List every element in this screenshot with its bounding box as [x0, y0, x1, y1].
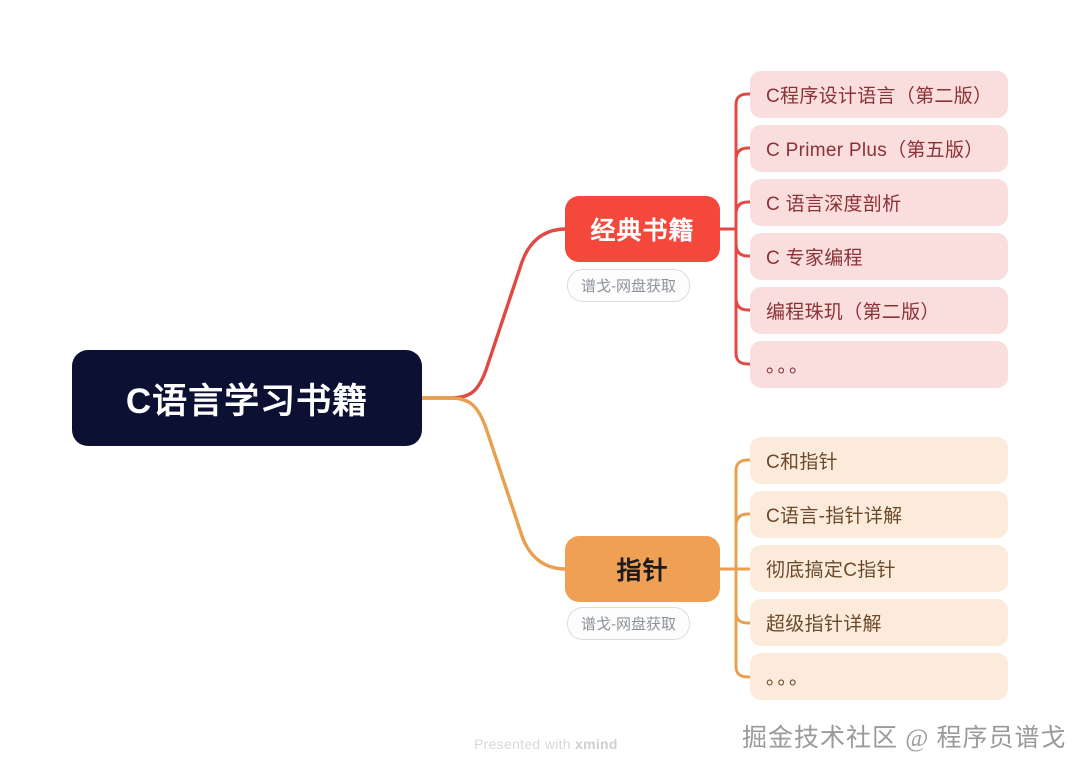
connector-pointer-arm-5	[736, 654, 750, 677]
leaf-node-classic-3-label: C 语言深度剖析	[750, 189, 901, 216]
xmind-watermark-prefix: Presented with	[474, 736, 575, 752]
note-pill-pointers[interactable]: 谱戈-网盘获取	[567, 607, 690, 640]
connector-classic-arm-1	[736, 94, 750, 117]
leaf-node-classic-3[interactable]: C 语言深度剖析	[750, 179, 1008, 226]
leaf-node-classic-6-label: 。。。	[750, 351, 810, 378]
root-node-label: C语言学习书籍	[126, 373, 368, 424]
leaf-node-classic-5[interactable]: 编程珠玑（第二版）	[750, 287, 1008, 334]
leaf-node-pointer-2-label: C语言-指针详解	[750, 501, 902, 528]
xmind-watermark-brand: xmind	[575, 736, 618, 752]
connector-classic-arm-4	[736, 244, 750, 256]
author-watermark: 掘金技术社区 @ 程序员谱戈	[742, 718, 1067, 754]
xmind-watermark: Presented with xmind	[474, 736, 618, 752]
leaf-node-classic-6-ellipsis[interactable]: 。。。	[750, 341, 1008, 388]
leaf-node-pointer-3[interactable]: 彻底搞定C指针	[750, 545, 1008, 592]
branch-node-pointers[interactable]: 指针	[565, 536, 720, 602]
leaf-node-classic-4-label: C 专家编程	[750, 243, 863, 270]
leaf-node-classic-1[interactable]: C程序设计语言（第二版）	[750, 71, 1008, 118]
connector-pointer-arm-2	[736, 514, 750, 526]
leaf-node-classic-5-label: 编程珠玑（第二版）	[750, 297, 940, 324]
branch-node-pointers-label: 指针	[616, 551, 668, 587]
note-pill-classic-books[interactable]: 谱戈-网盘获取	[567, 269, 690, 302]
leaf-node-classic-4[interactable]: C 专家编程	[750, 233, 1008, 280]
leaf-node-pointer-4[interactable]: 超级指针详解	[750, 599, 1008, 646]
leaf-node-classic-2-label: C Primer Plus（第五版）	[750, 135, 984, 162]
leaf-node-classic-2[interactable]: C Primer Plus（第五版）	[750, 125, 1008, 172]
leaf-node-pointer-2[interactable]: C语言-指针详解	[750, 491, 1008, 538]
connector-classic-arm-2	[736, 148, 750, 160]
connector-classic-arm-5	[736, 298, 750, 310]
note-pill-pointers-label: 谱戈-网盘获取	[581, 613, 676, 634]
root-node[interactable]: C语言学习书籍	[72, 350, 422, 446]
connector-root-to-pointer	[422, 398, 566, 569]
leaf-node-classic-1-label: C程序设计语言（第二版）	[750, 81, 992, 108]
leaf-node-pointer-5-ellipsis[interactable]: 。。。	[750, 653, 1008, 700]
leaf-node-pointer-1-label: C和指针	[750, 447, 838, 474]
connector-pointer-arm-4	[736, 612, 750, 623]
leaf-node-pointer-4-label: 超级指针详解	[750, 609, 882, 636]
connector-pointer-arm-1	[736, 460, 750, 483]
leaf-node-pointer-3-label: 彻底搞定C指针	[750, 555, 896, 582]
branch-node-classic-books[interactable]: 经典书籍	[565, 196, 720, 262]
note-pill-classic-books-label: 谱戈-网盘获取	[581, 275, 676, 296]
branch-node-classic-books-label: 经典书籍	[590, 211, 694, 247]
connector-classic-arm-3	[736, 202, 750, 214]
mindmap-canvas: C语言学习书籍 经典书籍 谱戈-网盘获取 C程序设计语言（第二版） C Prim…	[0, 0, 1080, 770]
connector-root-to-classic	[422, 229, 566, 398]
connector-classic-arm-6	[736, 341, 750, 364]
leaf-node-pointer-1[interactable]: C和指针	[750, 437, 1008, 484]
leaf-node-pointer-5-label: 。。。	[750, 663, 810, 690]
